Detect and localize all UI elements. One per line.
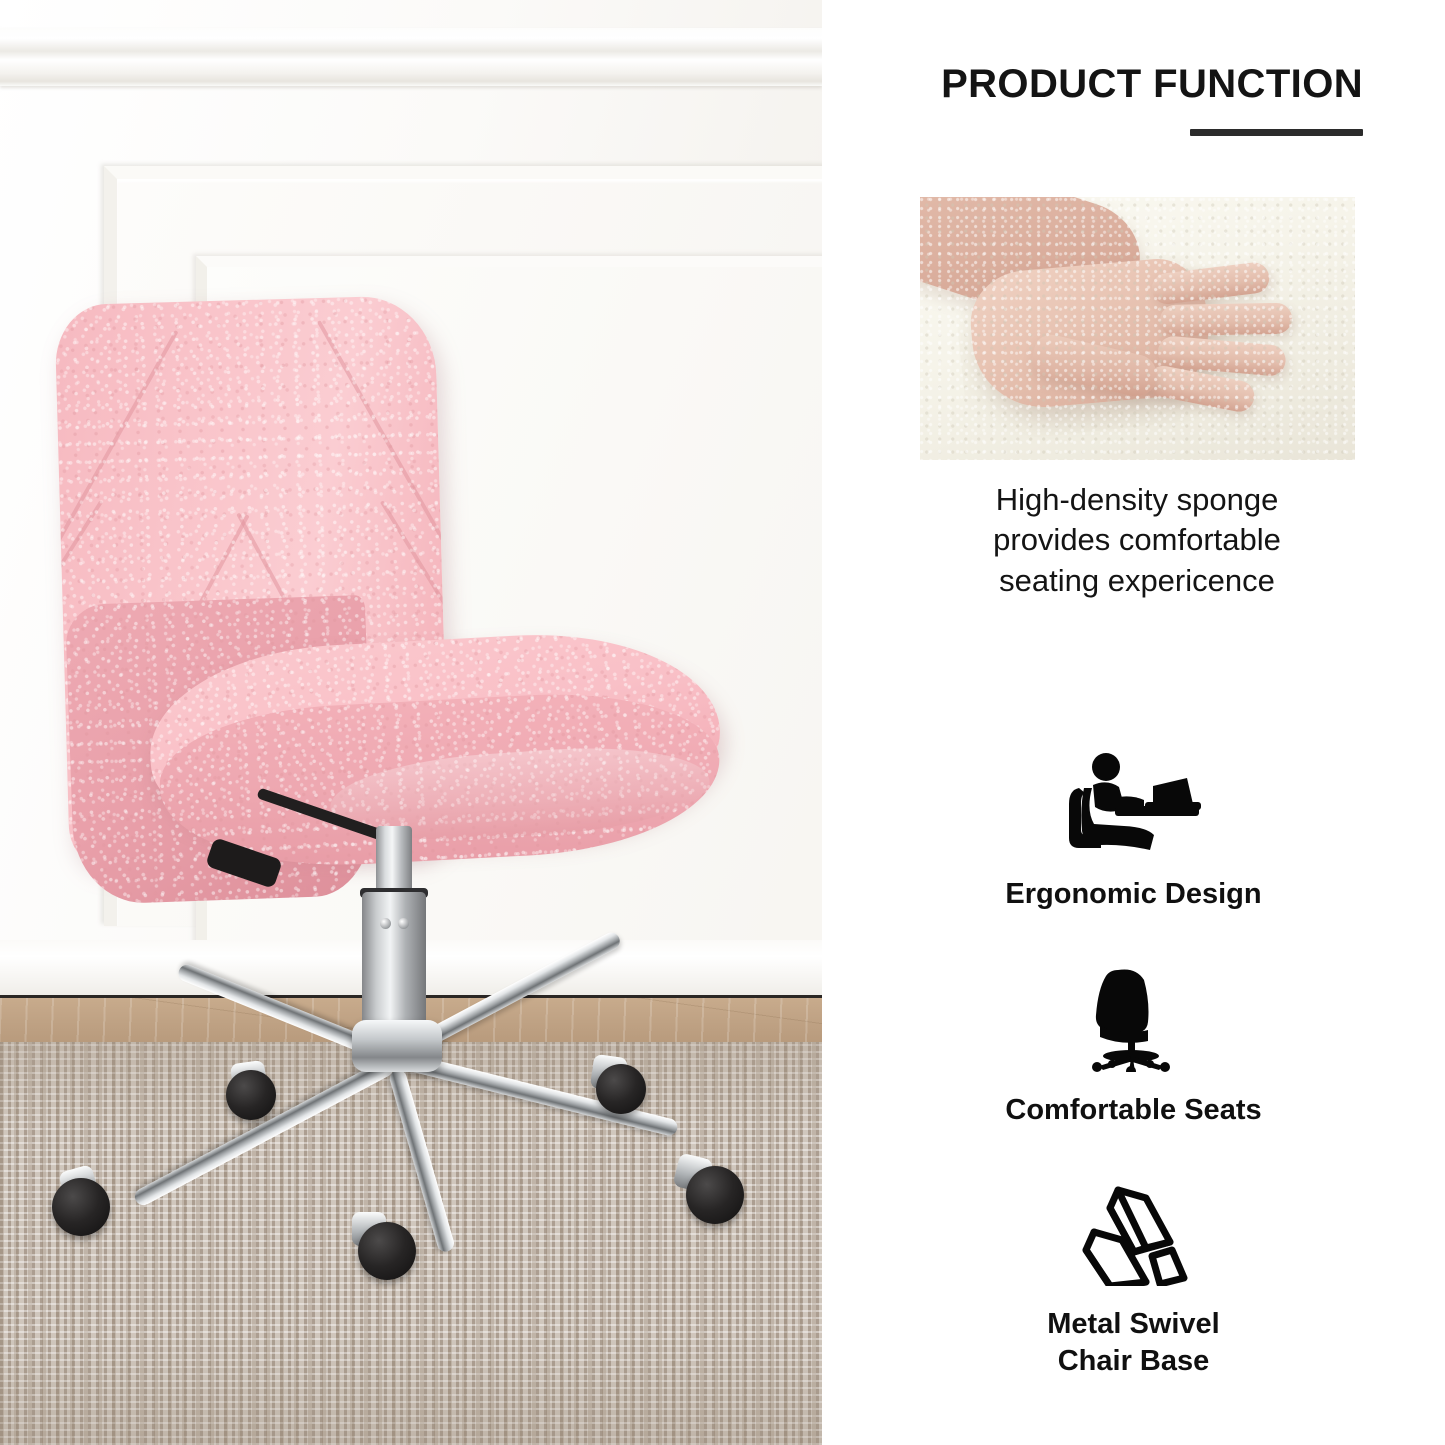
office-chair-icon [822, 968, 1445, 1072]
caster-wheel [358, 1222, 416, 1280]
metal-ingots-icon [822, 1182, 1445, 1286]
forearm [920, 197, 1154, 344]
product-function-infographic: PRODUCT FUNCTION High-density sponge pro… [0, 0, 1445, 1445]
finger [1145, 363, 1257, 414]
feature-label-line-2: Chair Base [822, 1343, 1445, 1380]
feature-list-panel: PRODUCT FUNCTION High-density sponge pro… [822, 0, 1445, 1445]
feature-item-comfortable-seats: Comfortable Seats [822, 968, 1445, 1129]
caster-wheel [52, 1178, 110, 1236]
sponge-caption-line-2: provides comfortable [872, 520, 1402, 560]
caster-wheel [686, 1166, 744, 1224]
feature-item-ergonomic-design: Ergonomic Design [822, 752, 1445, 913]
thumb [1029, 331, 1161, 400]
page-title: PRODUCT FUNCTION [941, 62, 1363, 107]
feature-label-line-1: Metal Swivel [822, 1306, 1445, 1343]
base-hub [352, 1020, 442, 1072]
gas-lift-rivet [398, 918, 409, 929]
feature-label: Comfortable Seats [822, 1092, 1445, 1129]
person-at-desk-icon [822, 752, 1445, 856]
sponge-caption: High-density sponge provides comfortable… [872, 480, 1402, 601]
palm [966, 255, 1213, 413]
caster-wheel [596, 1064, 646, 1114]
feature-item-metal-swivel-base: Metal Swivel Chair Base [822, 1182, 1445, 1380]
finger [1160, 303, 1293, 336]
finger [1150, 261, 1271, 306]
title-underline-bar [1190, 129, 1363, 136]
caster-wheel [226, 1070, 276, 1120]
gas-lift-rivet [380, 918, 391, 929]
feature-label: Metal Swivel Chair Base [822, 1306, 1445, 1380]
office-chair [0, 0, 822, 1445]
product-photo [0, 0, 822, 1445]
sponge-caption-line-1: High-density sponge [872, 480, 1402, 520]
sponge-caption-line-3: seating expericence [872, 561, 1402, 601]
feature-label: Ergonomic Design [822, 876, 1445, 913]
finger [1157, 335, 1287, 377]
memory-foam-photo [920, 197, 1355, 460]
foam-depression [952, 244, 1268, 444]
